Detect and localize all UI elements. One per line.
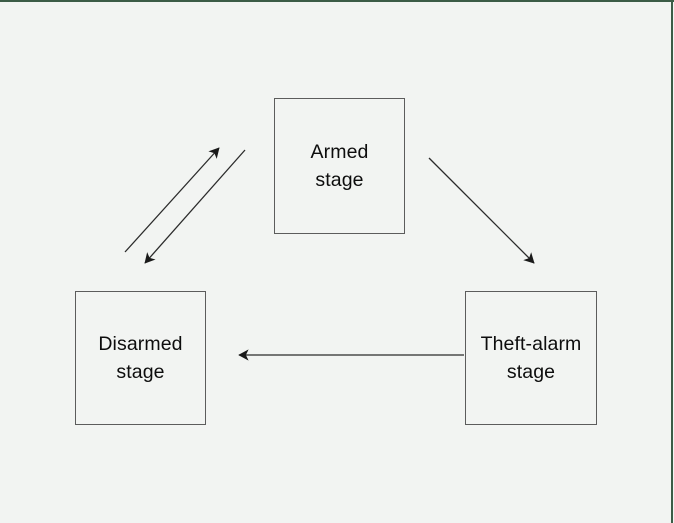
canvas-right-border [671, 0, 673, 523]
edge-armed-to-disarmed [145, 150, 245, 263]
edge-disarmed-to-armed [125, 148, 219, 252]
diagram-canvas: Armed stage Disarmed stage Theft-alarm s… [0, 0, 674, 523]
node-theft-alarm-stage-label: Theft-alarm stage [481, 330, 582, 386]
node-armed-stage-label: Armed stage [311, 138, 369, 194]
node-disarmed-stage-label: Disarmed stage [98, 330, 182, 386]
canvas-top-border [0, 0, 674, 2]
arrow-layer [0, 0, 674, 523]
node-armed-stage[interactable]: Armed stage [274, 98, 405, 234]
edge-armed-to-theft-alarm [429, 158, 534, 263]
node-disarmed-stage[interactable]: Disarmed stage [75, 291, 206, 425]
node-theft-alarm-stage[interactable]: Theft-alarm stage [465, 291, 597, 425]
